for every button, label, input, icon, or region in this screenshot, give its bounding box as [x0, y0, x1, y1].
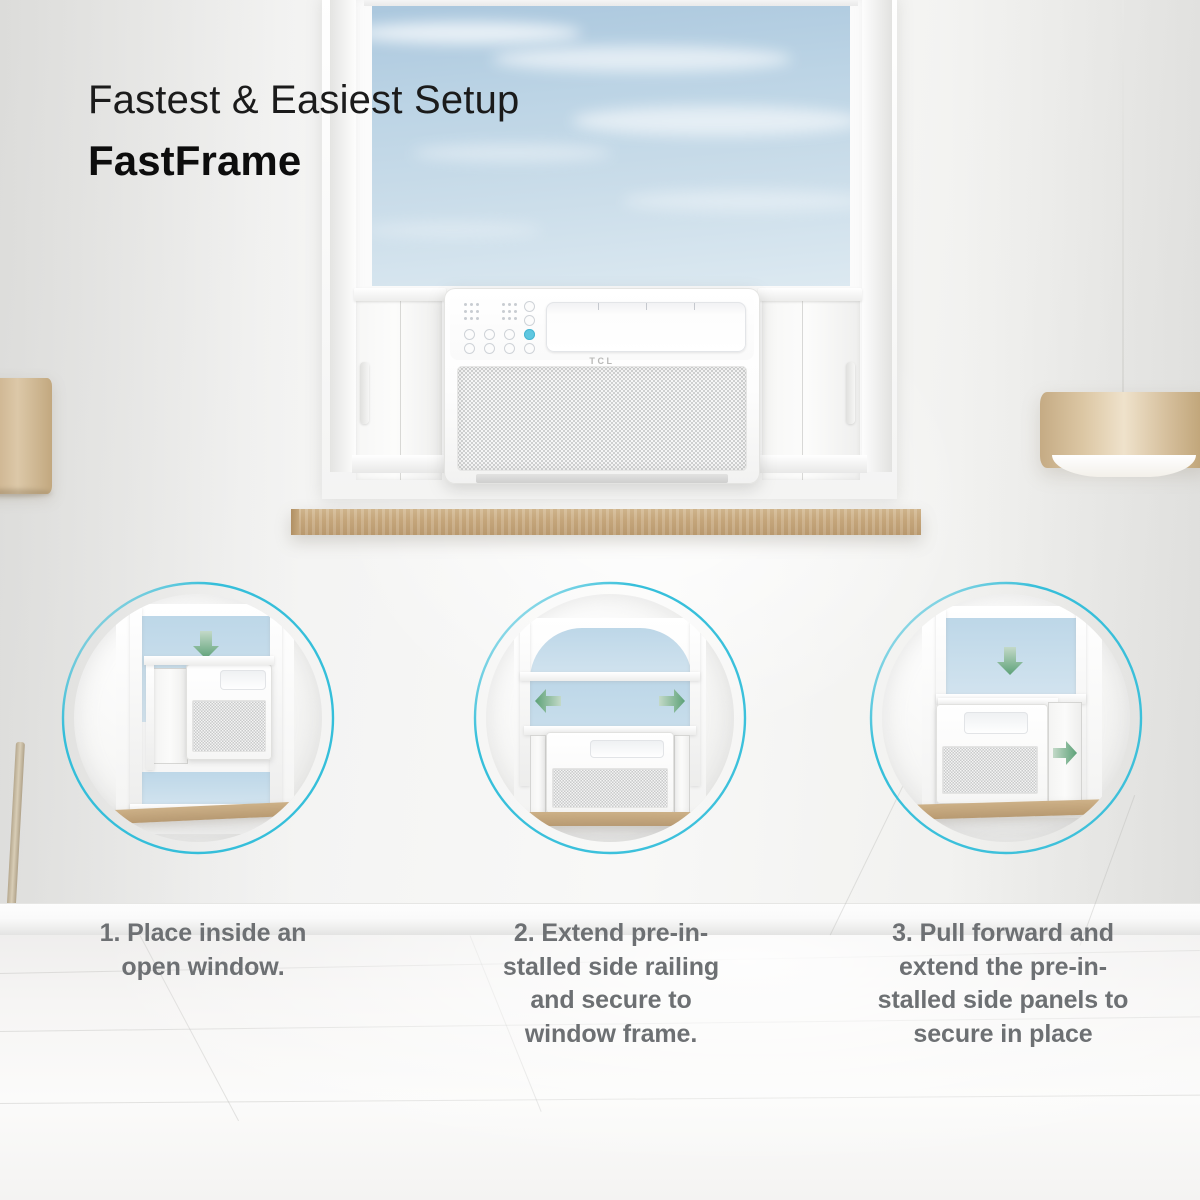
ac-control-panel[interactable] — [462, 301, 538, 353]
step-3-caption-line-1: 3. Pull forward and — [838, 917, 1168, 951]
step-3-caption-line-2: extend the pre-in- — [838, 951, 1168, 985]
product-marketing-image: TCL Fastest & Easiest Setup FastFrame — [0, 0, 1200, 1200]
ac-button-7[interactable] — [504, 343, 515, 354]
ac-button-6[interactable] — [484, 343, 495, 354]
ac-intake-grille — [457, 366, 747, 471]
window-top-sash — [364, 0, 858, 6]
step-2-caption-line-1: 2. Extend pre-in- — [446, 917, 776, 951]
headline-primary: Fastest & Easiest Setup — [88, 78, 728, 123]
step-2-arrow-left-icon — [534, 688, 562, 714]
brand-logo: TCL — [444, 356, 760, 366]
step-3-caption-line-3: stalled side panels to — [838, 984, 1168, 1018]
step-3-caption: 3. Pull forward and extend the pre-in- s… — [838, 917, 1168, 1051]
side-panel-left — [356, 300, 442, 480]
step-3-caption-line-4: secure in place — [838, 1018, 1168, 1052]
ac-base-bracket — [476, 474, 728, 483]
side-panel-right — [762, 300, 860, 480]
step-1-scene — [74, 594, 322, 842]
step-3-arrow-down-icon — [996, 646, 1024, 676]
ac-button-8[interactable] — [524, 343, 535, 354]
ac-button-1[interactable] — [464, 329, 475, 340]
step-1-caption: 1. Place inside an open window. — [38, 917, 368, 984]
air-conditioner-unit: TCL — [444, 288, 760, 484]
headline-block: Fastest & Easiest Setup FastFrame — [88, 78, 728, 184]
wooden-window-sill — [291, 509, 921, 535]
step-3-scene — [882, 594, 1130, 842]
wooden-sill-end-cap — [291, 509, 299, 535]
step-2-caption: 2. Extend pre-in- stalled side railing a… — [446, 917, 776, 1051]
step-callout-1 — [60, 580, 336, 856]
step-3-ac-unit — [936, 704, 1048, 804]
step-2-caption-line-2: stalled side railing — [446, 951, 776, 985]
step-3-arrow-right-icon — [1052, 740, 1078, 766]
step-callout-3 — [868, 580, 1144, 856]
headline-feature-name: FastFrame — [88, 137, 728, 184]
step-2-caption-line-4: window frame. — [446, 1018, 776, 1052]
step-2-scene — [486, 594, 734, 842]
step-2-arrow-right-icon — [658, 688, 686, 714]
ac-button-power-active[interactable] — [524, 329, 535, 340]
ac-button-display-2[interactable] — [524, 315, 535, 326]
top-rail-right — [758, 288, 862, 301]
top-rail-left — [354, 288, 446, 301]
step-1-side-panel — [152, 668, 188, 764]
ac-button-display-1[interactable] — [524, 301, 535, 312]
pendant-lamp-cord — [1122, 0, 1124, 392]
ac-upper-face — [450, 293, 754, 360]
step-2-ac-unit — [546, 732, 674, 814]
window-jamb-right — [862, 0, 892, 472]
step-2-caption-line-3: and secure to — [446, 984, 776, 1018]
window-jamb-left — [330, 0, 356, 472]
floor-lamp-shade — [0, 378, 52, 494]
ac-button-5[interactable] — [464, 343, 475, 354]
ac-button-3[interactable] — [504, 329, 515, 340]
step-1-caption-line-1: 1. Place inside an — [38, 917, 368, 951]
ac-button-2[interactable] — [484, 329, 495, 340]
ac-air-vent — [546, 302, 746, 352]
step-1-caption-line-2: open window. — [38, 951, 368, 985]
step-1-ac-unit — [186, 664, 272, 760]
step-callout-2 — [472, 580, 748, 856]
